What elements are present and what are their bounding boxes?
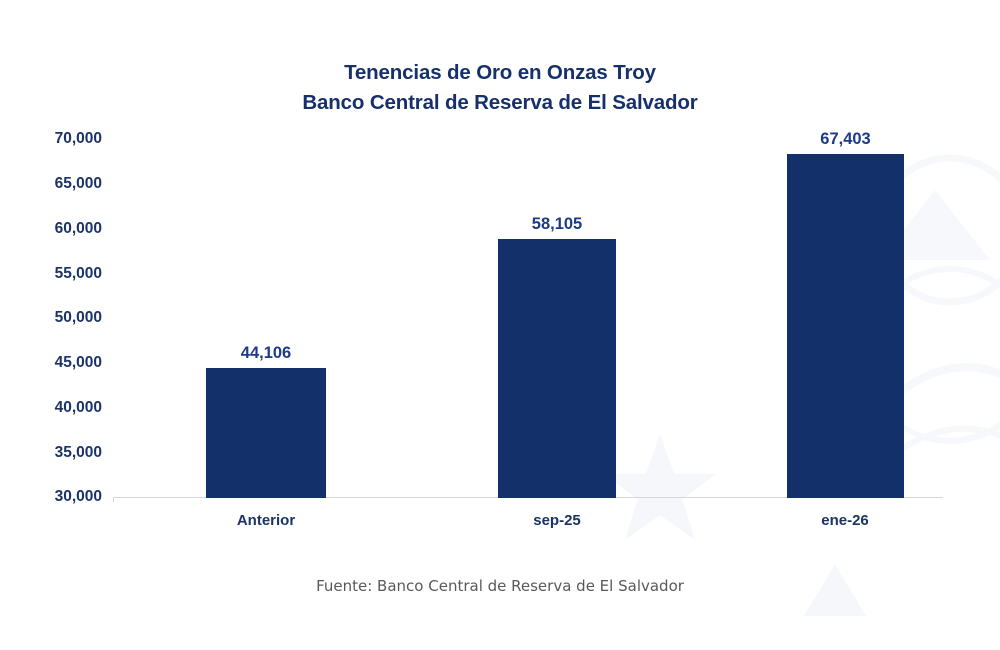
bar-ene-26[interactable]: 67,403 — [787, 154, 904, 498]
y-axis-tick-label: 50,000 — [2, 309, 102, 327]
x-axis-category-label-sep-25: sep-25 — [533, 512, 581, 529]
bar-value-label: 58,105 — [532, 215, 582, 234]
plot-area: 44,106 58,105 67,403 — [113, 130, 943, 498]
y-axis-tick-label: 45,000 — [2, 354, 102, 372]
y-axis-tick-label: 65,000 — [2, 175, 102, 193]
y-axis: 70,000 65,000 60,000 55,000 50,000 45,00… — [0, 0, 112, 650]
chart-title: Tenencias de Oro en Onzas Troy Banco Cen… — [0, 58, 1000, 118]
bar-chart: Tenencias de Oro en Onzas Troy Banco Cen… — [0, 0, 1000, 650]
source-note: Fuente: Banco Central de Reserva de El S… — [0, 577, 1000, 595]
chart-title-line-1: Tenencias de Oro en Onzas Troy — [0, 58, 1000, 88]
bar-anterior[interactable]: 44,106 — [206, 368, 326, 498]
y-axis-tick-label: 35,000 — [2, 444, 102, 462]
y-axis-tick-label: 55,000 — [2, 265, 102, 283]
y-axis-tick-label: 30,000 — [2, 488, 102, 506]
chart-title-line-2: Banco Central de Reserva de El Salvador — [0, 88, 1000, 118]
x-axis-category-label-ene-26: ene-26 — [821, 512, 869, 529]
x-axis-origin-tick — [113, 497, 114, 502]
x-axis-category-label-anterior: Anterior — [237, 512, 295, 529]
bar-value-label: 44,106 — [241, 344, 291, 363]
bar-value-label: 67,403 — [820, 130, 870, 149]
y-axis-tick-label: 40,000 — [2, 399, 102, 417]
y-axis-tick-label: 70,000 — [2, 130, 102, 148]
y-axis-tick-label: 60,000 — [2, 220, 102, 238]
bar-sep-25[interactable]: 58,105 — [498, 239, 616, 498]
